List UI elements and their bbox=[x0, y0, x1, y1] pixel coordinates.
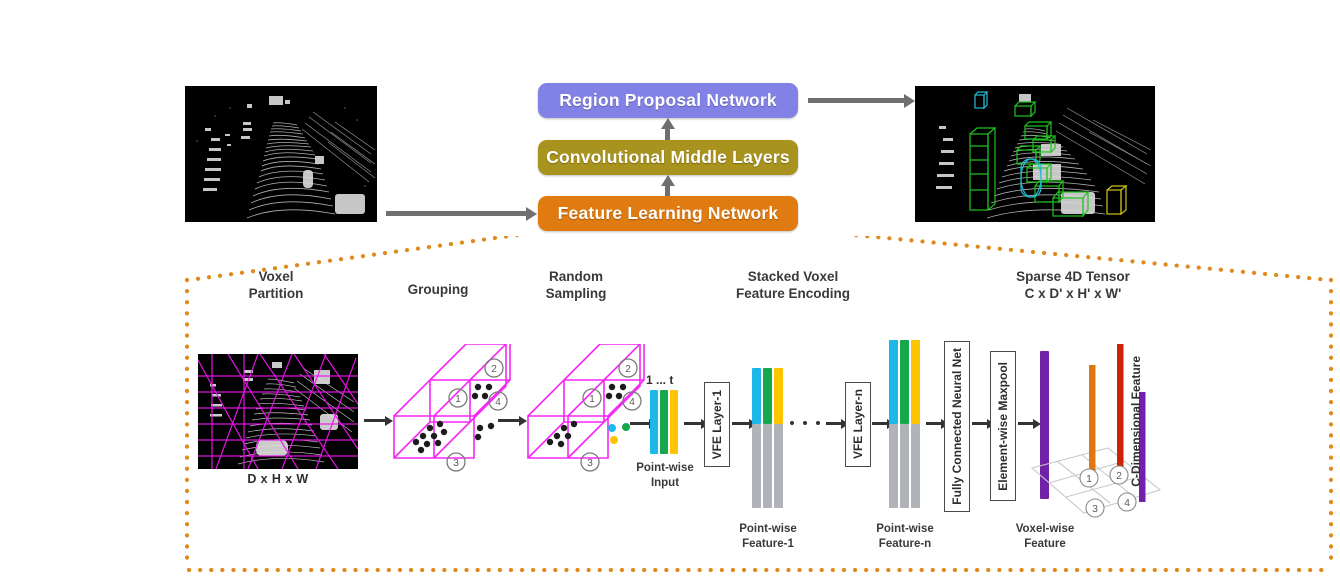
feature1-bar-yellow-top bbox=[774, 368, 783, 424]
svg-text:2: 2 bbox=[625, 364, 631, 375]
element-wise-maxpool-box[interactable]: Element-wise Maxpool bbox=[990, 351, 1016, 501]
arrow-input-to-feature-learning bbox=[386, 211, 528, 216]
feature1-bar-cyan-top bbox=[752, 368, 761, 424]
arrow-partition-to-grouping bbox=[364, 419, 386, 422]
svg-text:4: 4 bbox=[629, 397, 635, 408]
featuren-bar-gray-bottom-1 bbox=[889, 424, 898, 508]
section-title-grouping: Grouping bbox=[378, 281, 498, 298]
input-bar-cyan bbox=[650, 390, 658, 454]
section-title-sparse-4d-tensor: Sparse 4D Tensor C x D' x H' x W' bbox=[978, 268, 1168, 302]
point-wise-feature-n-bars bbox=[889, 340, 921, 508]
region-proposal-network-label: Region Proposal Network bbox=[559, 90, 777, 111]
arrow-grouping-to-sampling bbox=[498, 419, 520, 422]
voxel-partition-lidar bbox=[198, 354, 358, 469]
svg-text:1: 1 bbox=[1086, 473, 1092, 485]
arrow-vfen-to-featuren bbox=[872, 422, 888, 425]
arrow-featuren-to-fcnn bbox=[926, 422, 942, 425]
caption-point-wise-input: Point-wise Input bbox=[615, 461, 715, 491]
arrow-sampling-to-pointwise-input bbox=[630, 422, 650, 425]
svg-text:4: 4 bbox=[1124, 497, 1130, 509]
sparse-4d-tensor-grid: 12 34 bbox=[1020, 300, 1180, 550]
arrow-vfe1-to-feature1 bbox=[732, 422, 750, 425]
point-wise-feature-1-bars bbox=[752, 368, 784, 508]
svg-text:3: 3 bbox=[1092, 503, 1098, 515]
grouping-voxel-wireframe: 12 34 bbox=[390, 344, 530, 482]
feature-learning-network-label: Feature Learning Network bbox=[558, 203, 779, 224]
ellipsis-dots-vfe bbox=[790, 421, 820, 425]
svg-text:2: 2 bbox=[491, 364, 497, 375]
input-bar-yellow bbox=[670, 390, 678, 454]
point-wise-input-bars bbox=[650, 390, 680, 454]
featuren-bar-gray-bottom-2 bbox=[900, 424, 909, 508]
feature-learning-network-box[interactable]: Feature Learning Network bbox=[538, 196, 798, 231]
svg-text:3: 3 bbox=[587, 458, 593, 469]
svg-text:2: 2 bbox=[1116, 470, 1122, 482]
featuren-bar-cyan-top bbox=[889, 340, 898, 424]
convolutional-middle-layers-label: Convolutional Middle Layers bbox=[546, 147, 790, 168]
fully-connected-net-box[interactable]: Fully Connected Neural Net bbox=[944, 341, 970, 512]
vfe-layer-n-box[interactable]: VFE Layer-n bbox=[845, 382, 871, 467]
svg-text:1: 1 bbox=[589, 394, 595, 405]
vfe-layer-1-label: VFE Layer-1 bbox=[710, 390, 724, 459]
section-title-voxel-partition: Voxel Partition bbox=[216, 268, 336, 302]
feature1-bar-gray-bottom-1 bbox=[752, 424, 761, 508]
section-title-stacked-voxel-feature-encoding: Stacked Voxel Feature Encoding bbox=[698, 268, 888, 302]
vfe-layer-n-label: VFE Layer-n bbox=[851, 389, 865, 459]
feature1-bar-gray-bottom-2 bbox=[763, 424, 772, 508]
feature1-bar-green-top bbox=[763, 368, 772, 424]
region-proposal-network-box[interactable]: Region Proposal Network bbox=[538, 83, 798, 118]
featuren-bar-yellow-top bbox=[911, 340, 920, 424]
convolutional-middle-layers-box[interactable]: Convolutional Middle Layers bbox=[538, 140, 798, 175]
svg-text:1: 1 bbox=[455, 394, 461, 405]
point-index-label: 1 ... t bbox=[646, 373, 673, 387]
caption-point-wise-feature-1: Point-wise Feature-1 bbox=[718, 522, 818, 552]
c-dimensional-feature-label: C-Dimensional Feature bbox=[1129, 356, 1143, 487]
arrow-rpn-to-output bbox=[808, 98, 906, 103]
arrow-input-to-vfe1 bbox=[684, 422, 702, 425]
vfe-layer-1-box[interactable]: VFE Layer-1 bbox=[704, 382, 730, 467]
section-title-random-sampling: Random Sampling bbox=[516, 268, 636, 302]
fully-connected-neural-net-label: Fully Connected Neural Net bbox=[950, 348, 964, 505]
caption-point-wise-feature-n: Point-wise Feature-n bbox=[855, 522, 955, 552]
feature1-bar-gray-bottom-3 bbox=[774, 424, 783, 508]
lidar-detection-output bbox=[915, 86, 1155, 222]
arrow-fcnn-to-maxpool bbox=[972, 422, 988, 425]
lidar-input-point-cloud bbox=[185, 86, 377, 222]
featuren-bar-gray-bottom-3 bbox=[911, 424, 920, 508]
input-bar-green bbox=[660, 390, 668, 454]
featuren-bar-green-top bbox=[900, 340, 909, 424]
voxel-dims-label: D x H x W bbox=[198, 472, 358, 486]
arrow-dots-to-vfen bbox=[826, 422, 842, 425]
element-wise-maxpool-label: Element-wise Maxpool bbox=[996, 362, 1010, 491]
svg-text:3: 3 bbox=[453, 458, 459, 469]
svg-text:4: 4 bbox=[495, 397, 501, 408]
